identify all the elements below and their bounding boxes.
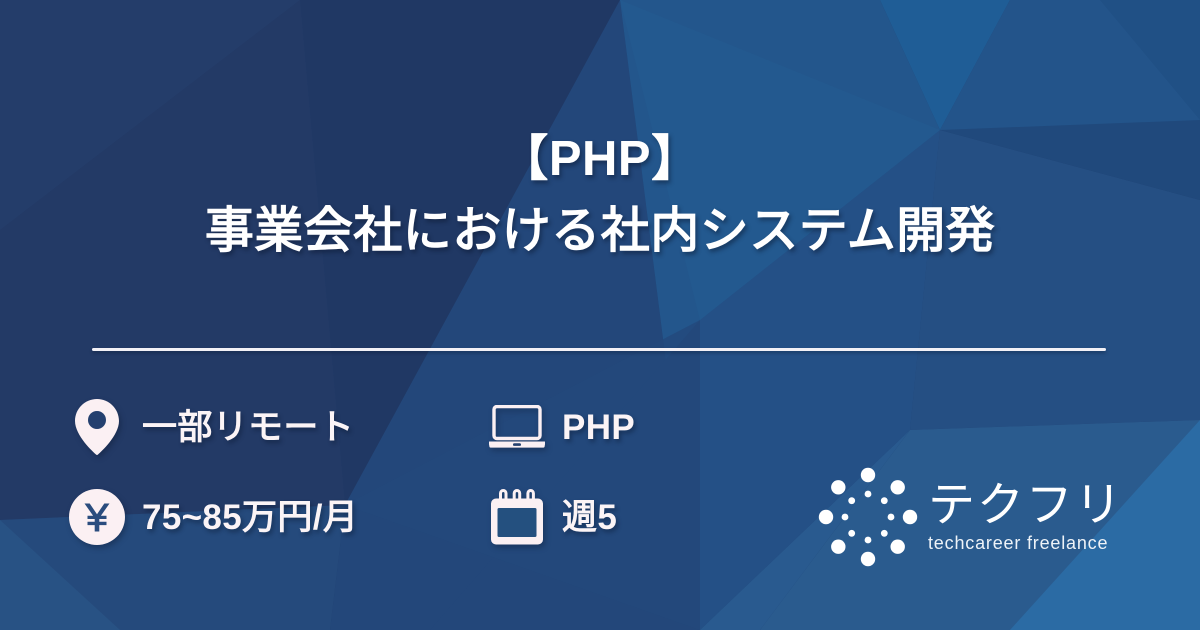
- meta-label-work-style: 一部リモート: [142, 410, 354, 445]
- meta-item-skill: PHP: [488, 398, 788, 456]
- meta-label-compensation: 75~85万円/月: [142, 500, 358, 535]
- meta-item-compensation: 75~85万円/月: [68, 488, 488, 546]
- card-content: 【PHP】 事業会社における社内システム開発 一部リモート: [0, 0, 1200, 630]
- logo-title: テクフリ: [928, 480, 1124, 529]
- meta-label-skill: PHP: [562, 410, 635, 445]
- logo-text: テクフリ techcareer freelance: [928, 480, 1124, 554]
- meta-row: 一部リモート PHP: [68, 396, 828, 458]
- location-pin-icon: [68, 398, 126, 456]
- meta-row: 75~85万円/月 週5: [68, 486, 828, 548]
- logo-tagline: techcareer freelance: [928, 533, 1124, 554]
- calendar-icon: [488, 488, 546, 546]
- yen-circle-icon: [68, 488, 126, 546]
- meta-grid: 一部リモート PHP: [68, 396, 828, 576]
- dot-cluster-icon: [818, 467, 918, 567]
- laptop-icon: [488, 398, 546, 456]
- ogp-card: 【PHP】 事業会社における社内システム開発 一部リモート: [0, 0, 1200, 630]
- meta-item-work-style: 一部リモート: [68, 398, 488, 456]
- page-title: 【PHP】 事業会社における社内システム開発: [0, 128, 1200, 263]
- meta-item-work-days: 週5: [488, 488, 788, 546]
- meta-label-work-days: 週5: [562, 500, 617, 535]
- brand-logo: テクフリ techcareer freelance: [818, 466, 1138, 568]
- title-line-2: 事業会社における社内システム開発: [0, 200, 1200, 264]
- divider: [92, 348, 1106, 351]
- title-line-1: 【PHP】: [0, 128, 1200, 192]
